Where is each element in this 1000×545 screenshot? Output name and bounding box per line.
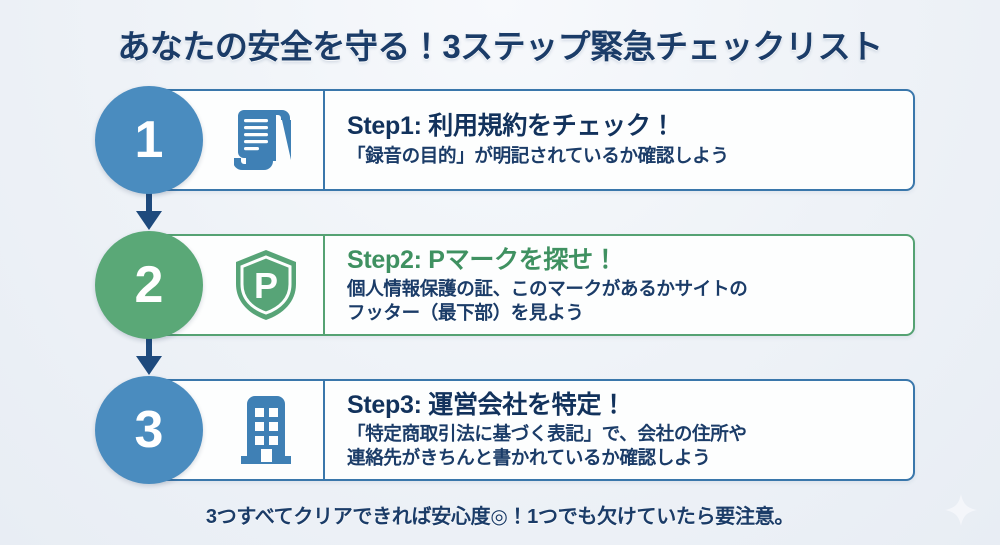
- step-item-1: 1: [0, 86, 1000, 196]
- step-description-1: 「録音の目的」が明記されているか確認しよう: [347, 144, 899, 168]
- step-description-2: 個人情報保護の証、このマークがあるかサイトの フッター（最下部）を見よう: [347, 277, 899, 324]
- step-description-line: 「録音の目的」が明記されているか確認しよう: [347, 144, 899, 168]
- footer-note: 3つすべてクリアできれば安心度◎！1つでも欠けていたら要注意。: [0, 500, 1000, 529]
- scroll-document-icon: [234, 104, 298, 176]
- step-card-1: Step1: 利用規約をチェック！ 「録音の目的」が明記されているか確認しよう: [148, 89, 915, 191]
- step-item-3: 3: [0, 376, 1000, 486]
- step-description-line: 「特定商取引法に基づく表記」で、会社の住所や: [347, 422, 899, 446]
- step-number-3: 3: [135, 404, 164, 456]
- step-heading-3: Step3: 運営会社を特定！: [347, 391, 899, 421]
- step-number-badge-2: 2: [95, 231, 203, 339]
- step-number-1: 1: [135, 114, 164, 166]
- step-text-cell-2: Step2: Pマークを探せ！ 個人情報保護の証、このマークがあるかサイトの フ…: [325, 236, 913, 334]
- step-description-line: 連絡先がきちんと書かれているか確認しよう: [347, 446, 899, 470]
- step-connector-arrow-1: [133, 190, 165, 232]
- step-connector-arrow-2: [133, 335, 165, 377]
- step-description-3: 「特定商取引法に基づく表記」で、会社の住所や 連絡先がきちんと書かれているか確認…: [347, 422, 899, 469]
- step-text-cell-1: Step1: 利用規約をチェック！ 「録音の目的」が明記されているか確認しよう: [325, 91, 913, 189]
- step-card-2: P Step2: Pマークを探せ！ 個人情報保護の証、このマークがあるかサイトの…: [148, 234, 915, 336]
- step-heading-2: Step2: Pマークを探せ！: [347, 246, 899, 276]
- office-building-icon: [233, 394, 299, 466]
- step-item-2: 2 P Step2: Pマークを探せ！ 個人情報保護の証、このマーク: [0, 231, 1000, 341]
- step-card-3: Step3: 運営会社を特定！ 「特定商取引法に基づく表記」で、会社の住所や 連…: [148, 379, 915, 481]
- steps-list: 1: [0, 86, 1000, 486]
- step-description-line: フッター（最下部）を見よう: [347, 301, 899, 325]
- shield-p-mark-icon: P: [232, 248, 300, 322]
- svg-text:P: P: [253, 265, 277, 306]
- infographic-slide: あなたの安全を守る！3ステップ緊急チェックリスト 1: [0, 0, 1000, 545]
- step-number-badge-1: 1: [95, 86, 203, 194]
- step-heading-1: Step1: 利用規約をチェック！: [347, 112, 899, 142]
- step-text-cell-3: Step3: 運営会社を特定！ 「特定商取引法に基づく表記」で、会社の住所や 連…: [325, 381, 913, 479]
- step-number-2: 2: [135, 259, 164, 311]
- step-description-line: 個人情報保護の証、このマークがあるかサイトの: [347, 277, 899, 301]
- page-title: あなたの安全を守る！3ステップ緊急チェックリスト: [0, 20, 1000, 68]
- step-number-badge-3: 3: [95, 376, 203, 484]
